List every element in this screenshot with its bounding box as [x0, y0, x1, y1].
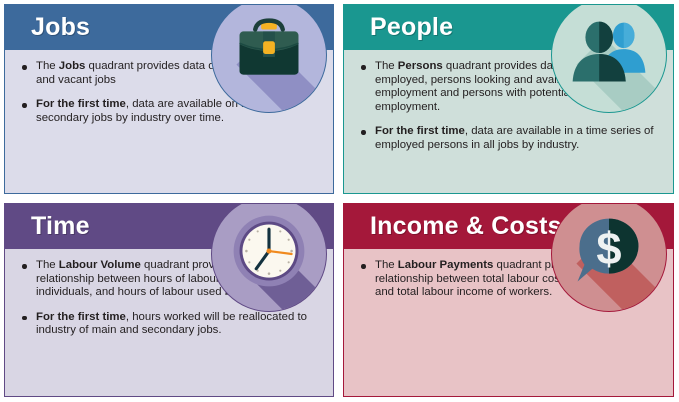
bullet-lead: Jobs [59, 60, 86, 72]
bullet-prefix: The [375, 259, 398, 271]
bullet-lead: For the first time [375, 125, 465, 137]
jobs-title: Jobs [31, 15, 90, 40]
bullet-lead: Labour Payments [398, 259, 494, 271]
quadrant-people: People [339, 0, 679, 199]
quadrant-income-costs: Income & Costs $ The Labour Payments qua… [339, 199, 679, 402]
bullet-lead: Persons [398, 60, 443, 72]
jobs-panel: Jobs The Jobs quadrant provides data [4, 4, 334, 194]
people-title: People [370, 15, 453, 40]
income-costs-panel: Income & Costs $ The Labour Payments qua… [343, 203, 674, 397]
people-icon [551, 4, 667, 113]
bullet-lead: For the first time [36, 311, 126, 323]
list-item: For the first time, hours worked will be… [19, 311, 321, 338]
briefcase-icon [211, 4, 327, 113]
quadrant-grid: Jobs The Jobs quadrant provides data [0, 0, 679, 402]
bullet-prefix: The [36, 259, 59, 271]
list-item: For the first time, data are available i… [358, 125, 661, 152]
time-panel: Time [4, 203, 334, 397]
bullet-prefix: The [36, 60, 59, 72]
bullet-prefix: The [375, 60, 398, 72]
people-panel: People [343, 4, 674, 194]
svg-text:$: $ [596, 223, 621, 274]
time-title: Time [31, 214, 90, 239]
bullet-lead: For the first time [36, 98, 126, 110]
bullet-lead: Labour Volume [59, 259, 141, 271]
quadrant-jobs: Jobs The Jobs quadrant provides data [0, 0, 339, 199]
dollar-speech-bubble-icon: $ [551, 203, 667, 312]
income-costs-title: Income & Costs [370, 214, 562, 239]
clock-icon [211, 203, 327, 312]
quadrant-time: Time [0, 199, 339, 402]
